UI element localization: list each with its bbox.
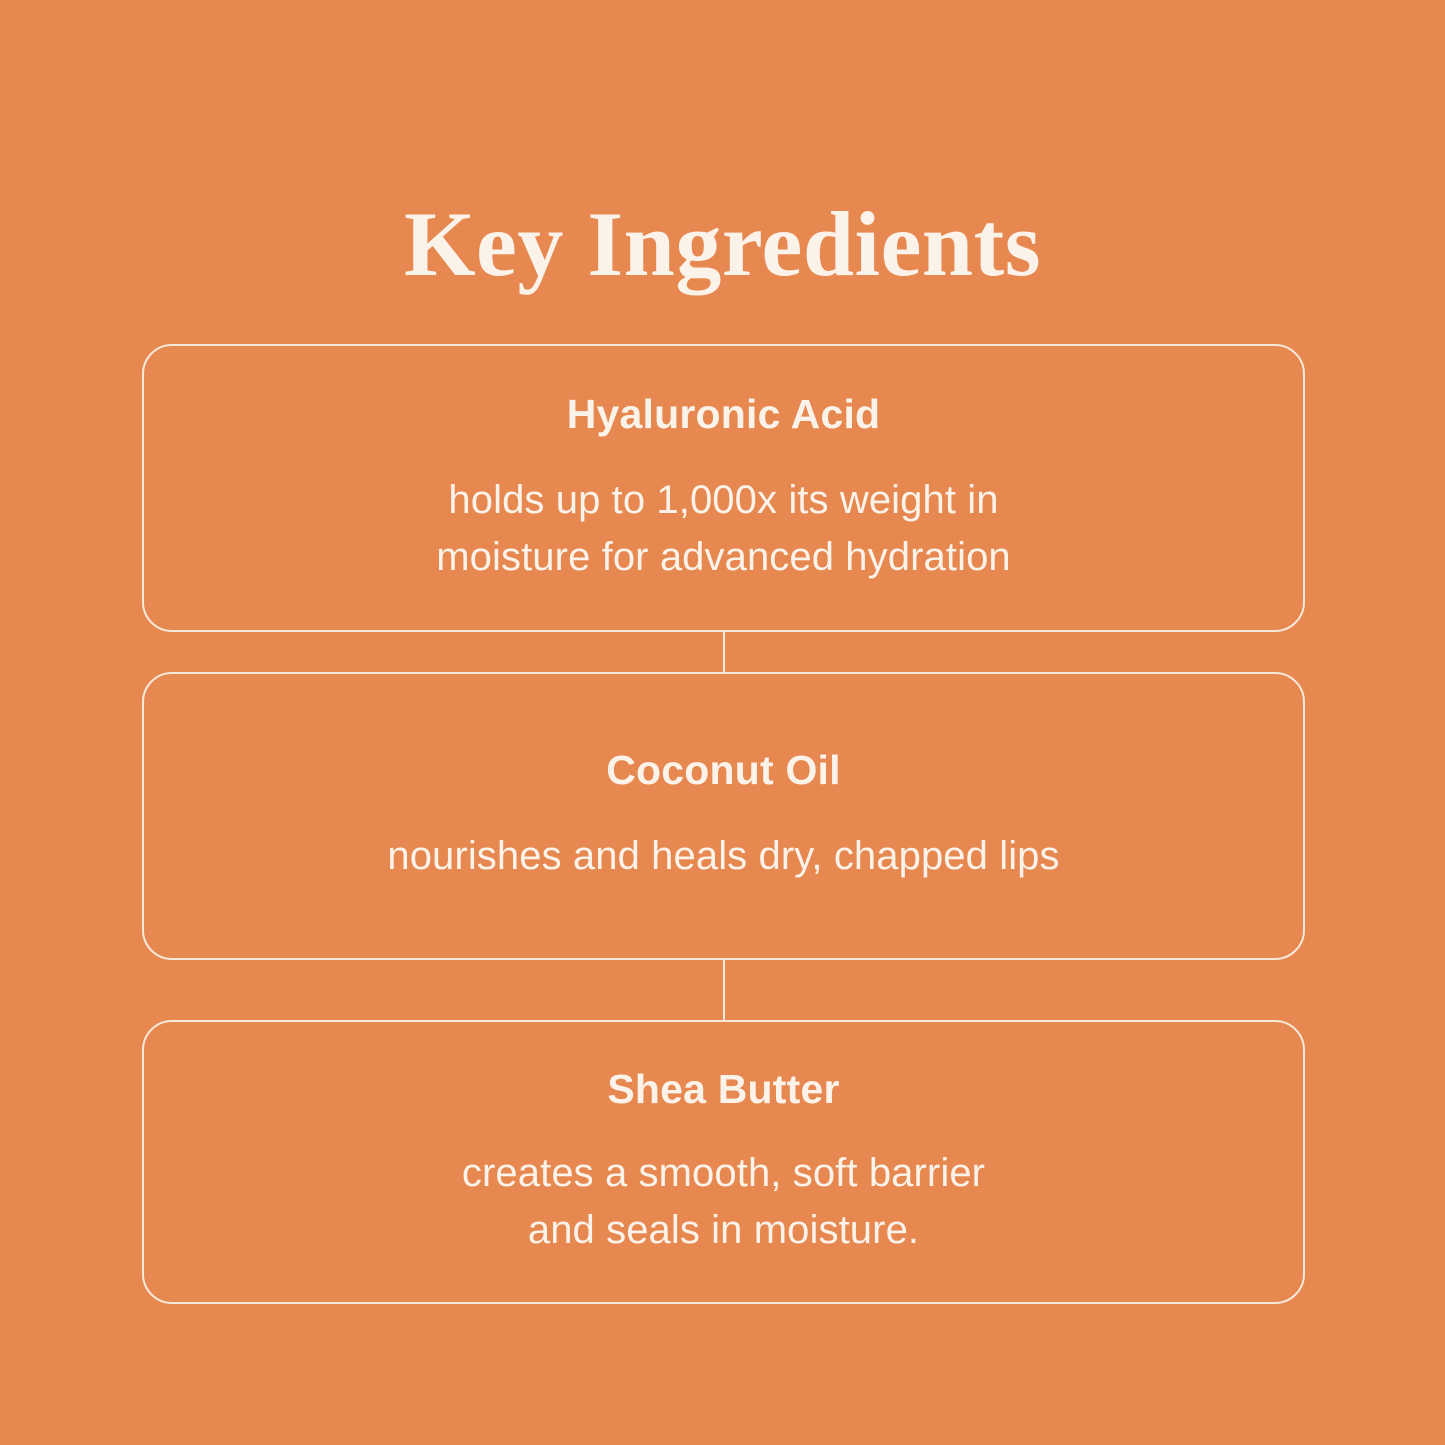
- ingredient-card-coconut-oil: Coconut Oil nourishes and heals dry, cha…: [142, 672, 1305, 960]
- connector-line-icon: [723, 632, 725, 672]
- ingredient-title-shea-butter: Shea Butter: [607, 1066, 839, 1113]
- ingredient-card-shea-butter: Shea Butter creates a smooth, soft barri…: [142, 1020, 1305, 1304]
- ingredient-description-hyaluronic-acid: holds up to 1,000x its weight in moistur…: [436, 472, 1011, 586]
- ingredient-description-shea-butter: creates a smooth, soft barrier and seals…: [462, 1145, 985, 1259]
- connector-card1-card2: [142, 632, 1305, 672]
- page-title: Key Ingredients: [0, 195, 1445, 294]
- ingredient-description-coconut-oil: nourishes and heals dry, chapped lips: [387, 828, 1059, 885]
- ingredient-card-hyaluronic-acid: Hyaluronic Acid holds up to 1,000x its w…: [142, 344, 1305, 632]
- connector-line-icon: [723, 960, 725, 1020]
- ingredient-title-coconut-oil: Coconut Oil: [606, 747, 841, 794]
- key-ingredients-infographic: Key Ingredients Hyaluronic Acid holds up…: [0, 0, 1445, 1445]
- ingredient-title-hyaluronic-acid: Hyaluronic Acid: [567, 391, 881, 438]
- connector-card2-card3: [142, 960, 1305, 1020]
- ingredient-card-stack: Hyaluronic Acid holds up to 1,000x its w…: [142, 344, 1305, 1304]
